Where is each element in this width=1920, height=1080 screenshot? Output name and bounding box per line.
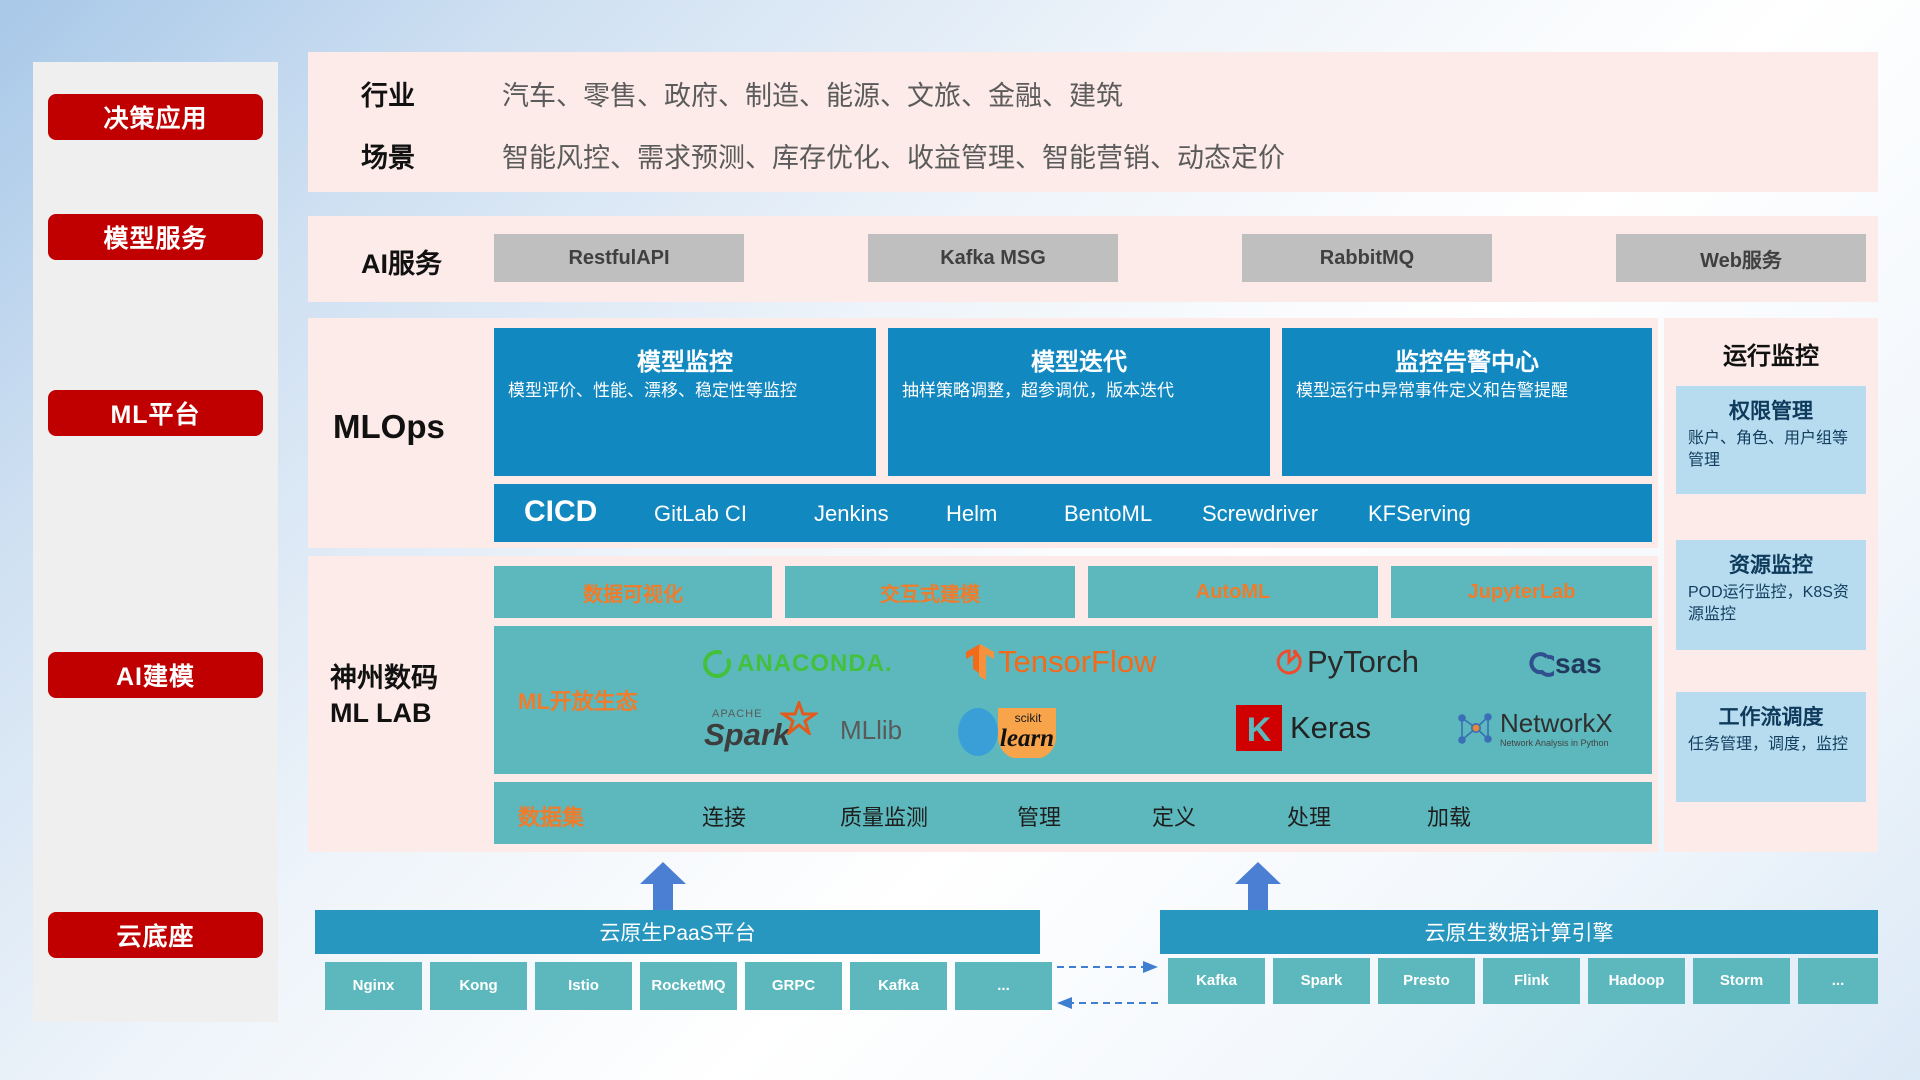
card-title: 资源监控 — [1676, 549, 1866, 579]
dataset-item-label: 加载 — [1427, 805, 1471, 830]
spark-star-icon — [780, 701, 818, 735]
cicd-item-label: Helm — [946, 501, 997, 526]
sas-icon — [1524, 649, 1554, 679]
bidirectional-connector-icon — [1055, 955, 1160, 1015]
ml-lab-label: 神州数码 ML LAB — [330, 661, 438, 731]
sidebar-item-label: 云底座 — [116, 917, 194, 953]
runtime-monitor-panel: 运行监控 权限管理 账户、角色、用户组等管理 资源监控 POD运行监控，K8S资… — [1664, 318, 1878, 852]
architecture-diagram: 决策应用 模型服务 ML平台 AI建模 云底座 行业 汽车、零售、政府、制造、能… — [0, 0, 1920, 1080]
engine-chip-spark[interactable]: Spark — [1273, 958, 1370, 1004]
card-title: 模型监控 — [494, 342, 876, 377]
service-chip-restfulapi[interactable]: RestfulAPI — [494, 234, 744, 282]
networkx-icon — [1454, 708, 1496, 750]
spark-mark: APACHE Spark — [704, 705, 834, 755]
chip-label: ... — [1832, 973, 1845, 989]
ai-service-band: AI服务 RestfulAPI Kafka MSG RabbitMQ Web服务 — [308, 216, 1878, 302]
cicd-title: CICD — [524, 495, 597, 529]
keras-label: Keras — [1290, 710, 1371, 746]
dataset-item-manage[interactable]: 管理 — [984, 800, 1094, 832]
industry-label: 行业 — [361, 74, 415, 113]
chip-label: 数据可视化 — [583, 578, 683, 607]
chip-label: Kafka MSG — [940, 247, 1046, 270]
networkx-logo: NetworkX Network Analysis in Python — [1454, 704, 1613, 754]
sidebar-item-ml-platform[interactable]: ML平台 — [48, 390, 263, 436]
scikit-learn-logo: scikit learn — [954, 702, 1064, 758]
industry-scenario-band: 行业 汽车、零售、政府、制造、能源、文旅、金融、建筑 场景 智能风控、需求预测、… — [308, 52, 1878, 192]
dataset-item-process[interactable]: 处理 — [1254, 800, 1364, 832]
chip-label: Storm — [1720, 973, 1763, 989]
data-engine-label: 云原生数据计算引擎 — [1425, 917, 1614, 947]
networkx-sub-label: Network Analysis in Python — [1500, 738, 1613, 748]
engine-chip-flink[interactable]: Flink — [1483, 958, 1580, 1004]
pytorch-logo: PyTorch — [1274, 640, 1419, 684]
mlops-card-model-monitor[interactable]: 模型监控 模型评价、性能、漂移、稳定性等监控 — [494, 328, 876, 476]
keras-icon: K — [1236, 705, 1282, 751]
svg-text:learn: learn — [1000, 725, 1054, 752]
ml-ecosystem-label: ML开放生态 — [518, 684, 638, 716]
engine-chip-more[interactable]: ... — [1798, 958, 1878, 1004]
anaconda-label: ANACONDA. — [737, 650, 893, 678]
sidebar-item-label: 决策应用 — [103, 99, 207, 135]
cicd-item-screwdriver[interactable]: Screwdriver — [1202, 502, 1327, 525]
engine-chip-kafka[interactable]: Kafka — [1168, 958, 1265, 1004]
ml-ecosystem-band: ML开放生态 ANACONDA. TensorFlow — [494, 626, 1652, 774]
sas-label: sas — [1555, 648, 1602, 680]
card-desc: 任务管理，调度，监控 — [1688, 734, 1856, 756]
sidebar-item-label: 模型服务 — [103, 219, 207, 255]
card-title: 模型迭代 — [888, 342, 1270, 377]
chip-label: Kafka — [878, 978, 919, 994]
card-desc: POD运行监控，K8S资源监控 — [1688, 582, 1856, 625]
chip-label: Flink — [1514, 973, 1549, 989]
lab-chip-interactive-modeling[interactable]: 交互式建模 — [785, 566, 1075, 618]
card-title: 权限管理 — [1676, 395, 1866, 425]
spark-label: Spark — [704, 717, 790, 753]
paas-chip-more[interactable]: ... — [955, 962, 1052, 1010]
chip-label: Presto — [1403, 973, 1450, 989]
dataset-item-load[interactable]: 加载 — [1394, 800, 1504, 832]
cicd-item-jenkins[interactable]: Jenkins — [814, 502, 924, 525]
industry-value: 汽车、零售、政府、制造、能源、文旅、金融、建筑 — [502, 74, 1123, 113]
chip-label: RestfulAPI — [568, 247, 669, 270]
ml-lab-label-line2: ML LAB — [330, 696, 438, 731]
tensorflow-icon — [964, 642, 996, 682]
dataset-item-label: 定义 — [1152, 805, 1196, 830]
cicd-item-gitlab-ci[interactable]: GitLab CI — [654, 502, 764, 525]
networkx-label: NetworkX — [1500, 710, 1613, 736]
chip-label: RabbitMQ — [1320, 247, 1414, 270]
engine-chip-hadoop[interactable]: Hadoop — [1588, 958, 1685, 1004]
monitor-card-permission[interactable]: 权限管理 账户、角色、用户组等管理 — [1676, 386, 1866, 494]
dataset-item-label: 管理 — [1017, 805, 1061, 830]
chip-label: Hadoop — [1609, 973, 1665, 989]
ai-service-label: AI服务 — [361, 242, 442, 281]
chip-label: Nginx — [353, 978, 395, 994]
sas-logo: sas — [1524, 644, 1602, 684]
paas-chip-rocketmq[interactable]: RocketMQ — [640, 962, 737, 1010]
sidebar-item-model-service[interactable]: 模型服务 — [48, 214, 263, 260]
paas-chip-grpc[interactable]: GRPC — [745, 962, 842, 1010]
chip-label: Istio — [568, 978, 599, 994]
monitor-card-workflow[interactable]: 工作流调度 任务管理，调度，监控 — [1676, 692, 1866, 802]
data-engine-bar[interactable]: 云原生数据计算引擎 — [1160, 910, 1878, 954]
service-chip-kafka-msg[interactable]: Kafka MSG — [868, 234, 1118, 282]
layer-rail: 决策应用 模型服务 ML平台 AI建模 云底座 — [33, 62, 278, 1022]
dataset-item-label: 处理 — [1287, 805, 1331, 830]
cicd-band: CICD GitLab CI Jenkins Helm BentoML Scre… — [494, 484, 1652, 542]
lab-chip-automl[interactable]: AutoML — [1088, 566, 1378, 618]
service-chip-web-service[interactable]: Web服务 — [1616, 234, 1866, 282]
paas-chip-kafka[interactable]: Kafka — [850, 962, 947, 1010]
lab-chip-jupyterlab[interactable]: JupyterLab — [1391, 566, 1652, 618]
dataset-band: 数据集 连接 质量监测 管理 定义 处理 加载 — [494, 782, 1652, 844]
chip-label: Web服务 — [1700, 244, 1782, 273]
sidebar-item-decision-app[interactable]: 决策应用 — [48, 94, 263, 140]
mlops-band: MLOps 模型监控 模型评价、性能、漂移、稳定性等监控 模型迭代 抽样策略调整… — [308, 318, 1658, 548]
cicd-item-label: KFServing — [1368, 501, 1471, 526]
lab-chip-data-visualization[interactable]: 数据可视化 — [494, 566, 772, 618]
card-desc: 模型评价、性能、漂移、稳定性等监控 — [508, 380, 864, 403]
svg-text:scikit: scikit — [1015, 711, 1042, 725]
anaconda-icon — [702, 649, 732, 679]
sidebar-item-label: ML平台 — [110, 395, 200, 431]
cicd-item-label: GitLab CI — [654, 501, 747, 526]
sidebar-item-label: AI建模 — [116, 657, 195, 693]
scikit-learn-icon: scikit learn — [954, 702, 1064, 758]
tensorflow-logo: TensorFlow — [964, 640, 1157, 684]
paas-chip-nginx[interactable]: Nginx — [325, 962, 422, 1010]
paas-platform-bar[interactable]: 云原生PaaS平台 — [315, 910, 1040, 954]
scenario-value: 智能风控、需求预测、库存优化、收益管理、智能营销、动态定价 — [502, 136, 1285, 175]
keras-logo: K Keras — [1236, 702, 1371, 754]
paas-chip-kong[interactable]: Kong — [430, 962, 527, 1010]
chip-label: Kong — [459, 978, 497, 994]
dataset-item-label: 质量监测 — [840, 805, 928, 830]
mlops-card-model-iteration[interactable]: 模型迭代 抽样策略调整，超参调优，版本迭代 — [888, 328, 1270, 476]
card-desc: 账户、角色、用户组等管理 — [1688, 428, 1856, 471]
pytorch-icon — [1274, 645, 1304, 679]
arrow-up-paas-icon — [640, 862, 686, 910]
paas-platform-label: 云原生PaaS平台 — [599, 917, 755, 947]
engine-chip-storm[interactable]: Storm — [1693, 958, 1790, 1004]
dataset-item-connect[interactable]: 连接 — [669, 800, 779, 832]
card-title: 工作流调度 — [1676, 701, 1866, 731]
engine-chip-presto[interactable]: Presto — [1378, 958, 1475, 1004]
card-title: 监控告警中心 — [1282, 342, 1652, 377]
paas-chip-istio[interactable]: Istio — [535, 962, 632, 1010]
chip-label: GRPC — [772, 978, 815, 994]
dataset-item-define[interactable]: 定义 — [1119, 800, 1229, 832]
spark-mllib-logo: APACHE Spark MLlib — [704, 704, 902, 756]
runtime-monitor-title: 运行监控 — [1664, 336, 1878, 371]
card-desc: 模型运行中异常事件定义和告警提醒 — [1296, 380, 1640, 403]
scenario-label: 场景 — [361, 136, 415, 175]
chip-label: RocketMQ — [651, 978, 725, 994]
arrow-up-data-engine-icon — [1235, 862, 1281, 910]
ml-lab-label-line1: 神州数码 — [330, 661, 438, 696]
sidebar-item-ai-modeling[interactable]: AI建模 — [48, 652, 263, 698]
dataset-item-label: 连接 — [702, 805, 746, 830]
cicd-item-label: BentoML — [1064, 501, 1152, 526]
cicd-item-helm[interactable]: Helm — [946, 502, 1056, 525]
cicd-item-kfserving[interactable]: KFServing — [1368, 502, 1478, 525]
svg-text:K: K — [1247, 711, 1272, 749]
card-desc: 抽样策略调整，超参调优，版本迭代 — [902, 380, 1258, 403]
ml-lab-band: 神州数码 ML LAB 数据可视化 交互式建模 AutoML JupyterLa… — [308, 556, 1658, 852]
cicd-item-bentoml[interactable]: BentoML — [1064, 502, 1174, 525]
mlops-card-alert-center[interactable]: 监控告警中心 模型运行中异常事件定义和告警提醒 — [1282, 328, 1652, 476]
chip-label: Spark — [1301, 973, 1343, 989]
chip-label: JupyterLab — [1468, 581, 1576, 604]
chip-label: AutoML — [1196, 581, 1270, 604]
cicd-item-label: Jenkins — [814, 501, 889, 526]
chip-label: Kafka — [1196, 973, 1237, 989]
tensorflow-label: TensorFlow — [998, 644, 1157, 680]
chip-label: 交互式建模 — [880, 578, 980, 607]
chip-label: ... — [997, 978, 1010, 994]
dataset-label: 数据集 — [518, 800, 584, 832]
anaconda-logo: ANACONDA. — [702, 644, 893, 684]
mlops-label: MLOps — [333, 408, 445, 446]
dataset-item-quality[interactable]: 质量监测 — [814, 800, 954, 832]
cicd-item-label: Screwdriver — [1202, 501, 1318, 526]
pytorch-label: PyTorch — [1307, 644, 1419, 680]
mllib-label: MLlib — [840, 715, 902, 746]
service-chip-rabbitmq[interactable]: RabbitMQ — [1242, 234, 1492, 282]
sidebar-item-cloud-base[interactable]: 云底座 — [48, 912, 263, 958]
monitor-card-resource[interactable]: 资源监控 POD运行监控，K8S资源监控 — [1676, 540, 1866, 650]
